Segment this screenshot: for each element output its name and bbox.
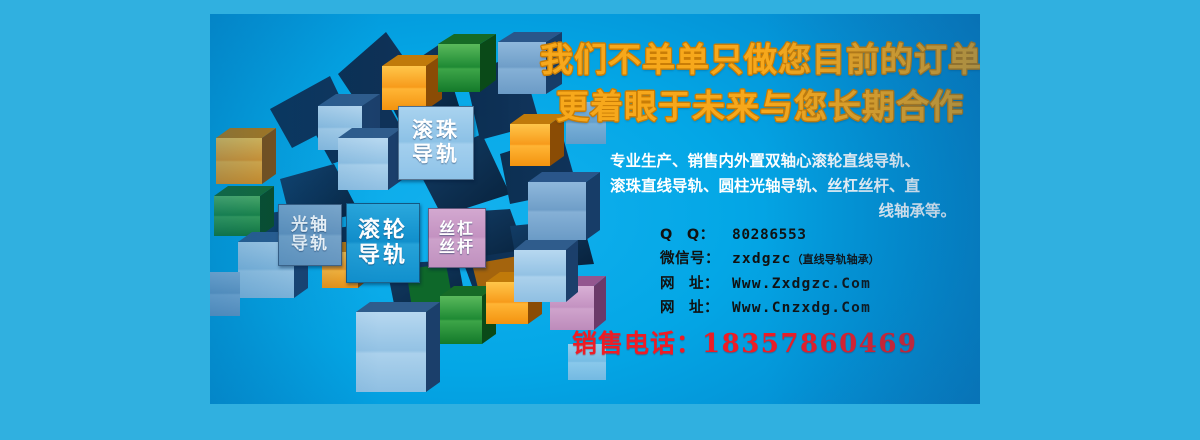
banner-text-column: 我们不单单只做您目前的订单 更着眼于未来与您长期合作 专业生产、销售内外置双轴心…: [540, 14, 980, 404]
contact-row-wechat: 微信号： zxdgzc （直线导轨轴承）: [660, 248, 980, 271]
cube-label-line1: 滚珠: [412, 119, 460, 143]
contact-row-website-1: 网址： Www.Zxdgzc.Com: [660, 273, 980, 295]
website-1-label: 网址：: [660, 273, 732, 295]
sales-phone-label: 销售电话：: [572, 329, 702, 358]
cube-label-lead-screw: 丝杠 丝杆: [428, 208, 486, 268]
qq-label: QQ：: [660, 224, 732, 246]
wechat-value: zxdgzc: [732, 248, 792, 270]
cube-label-line2: 丝杆: [439, 238, 475, 256]
headline: 我们不单单只做您目前的订单 更着眼于未来与您长期合作: [540, 36, 980, 130]
cube-label-line2: 导轨: [412, 143, 460, 167]
wechat-note: （直线导轨轴承）: [792, 249, 880, 271]
contact-row-website-2: 网址： Www.Cnzxdg.Com: [660, 297, 980, 319]
headline-line-1: 我们不单单只做您目前的订单: [540, 36, 980, 83]
cube-label-roller-rail: 滚轮 导轨: [346, 203, 420, 283]
description-line-3: 线轴承等。: [570, 199, 960, 224]
headline-line-2: 更着眼于未来与您长期合作: [540, 83, 980, 130]
contact-row-qq: QQ： 80286553: [660, 224, 980, 246]
description-line-1: 专业生产、销售内外置双轴心滚轮直线导轨、: [570, 149, 960, 174]
cube-label-line1: 滚轮: [358, 218, 408, 243]
contact-block: QQ： 80286553 微信号： zxdgzc （直线导轨轴承） 网址： Ww…: [660, 224, 980, 321]
cube-label-shaft-rail: 光轴 导轨: [278, 204, 342, 266]
website-1-value[interactable]: Www.Zxdgzc.Com: [732, 273, 871, 295]
qq-value: 80286553: [732, 224, 807, 246]
description-line-2: 滚珠直线导轨、圆柱光轴导轨、丝杠丝杆、直: [570, 174, 960, 199]
cube-label-line2: 导轨: [358, 243, 408, 268]
website-2-value[interactable]: Www.Cnzxdg.Com: [732, 297, 871, 319]
cube-label-line1: 光轴: [291, 216, 329, 235]
banner-panel: 滚珠 导轨 光轴 导轨 滚轮 导轨 丝杠 丝杆 我们不单单只做您目: [210, 14, 980, 404]
cube-label-ball-rail: 滚珠 导轨: [398, 106, 474, 180]
cube-label-line2: 导轨: [291, 235, 329, 254]
website-2-label: 网址：: [660, 297, 732, 319]
sales-phone-number: 18357860469: [702, 329, 918, 359]
promo-banner: 滚珠 导轨 光轴 导轨 滚轮 导轨 丝杠 丝杆 我们不单单只做您目: [0, 0, 1200, 440]
sales-phone: 销售电话：18357860469: [572, 324, 972, 360]
wechat-label: 微信号：: [660, 248, 732, 270]
cube-label-line1: 丝杠: [439, 220, 475, 238]
description-text: 专业生产、销售内外置双轴心滚轮直线导轨、 滚珠直线导轨、圆柱光轴导轨、丝杠丝杆、…: [570, 149, 960, 224]
